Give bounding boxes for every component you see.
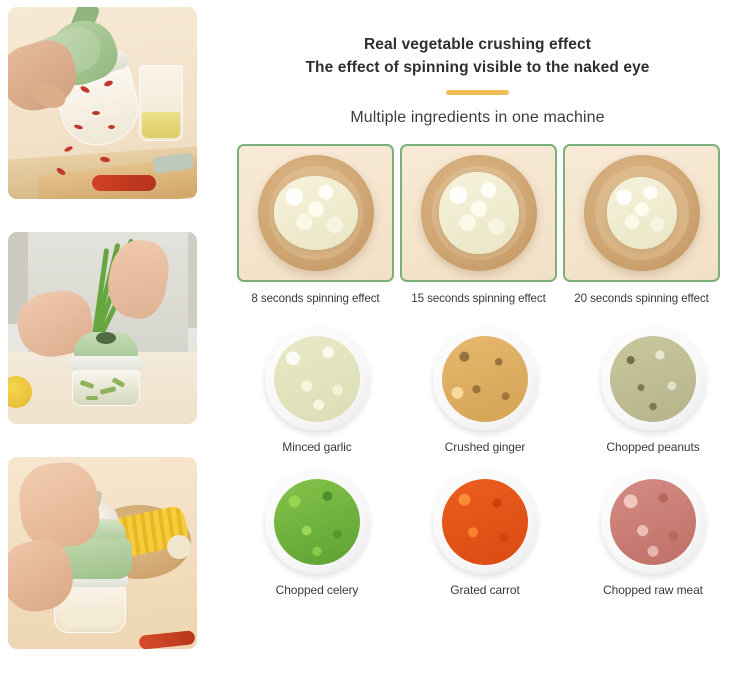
photo-chopper-scallions bbox=[8, 232, 197, 424]
product-photo-column bbox=[8, 7, 197, 649]
bowl-label: Minced garlic bbox=[233, 440, 401, 454]
chili-piece bbox=[92, 111, 100, 115]
bowl-cell-grated-carrot: Grated carrot bbox=[401, 470, 569, 597]
bowl-label: Chopped raw meat bbox=[569, 583, 737, 597]
chili-piece bbox=[108, 125, 115, 129]
bowl-cell-chopped-raw-meat: Chopped raw meat bbox=[569, 470, 737, 597]
bowl-contents bbox=[610, 479, 696, 565]
bowl-contents bbox=[442, 336, 528, 422]
bowl bbox=[601, 470, 705, 574]
bowl-contents bbox=[274, 336, 360, 422]
ingredient-bowl-grid: Minced garlic Crushed ginger Chopped pea… bbox=[233, 327, 750, 597]
bowl bbox=[433, 327, 537, 431]
timing-panel-row bbox=[237, 144, 750, 282]
bowl-contents bbox=[610, 336, 696, 422]
bowl bbox=[265, 470, 369, 574]
bowl-cell-crushed-ginger: Crushed ginger bbox=[401, 327, 569, 454]
bowl-contents bbox=[274, 479, 360, 565]
bowl-cell-chopped-peanuts: Chopped peanuts bbox=[569, 327, 737, 454]
bowl bbox=[433, 470, 537, 574]
chopper-feed-hole bbox=[96, 332, 116, 344]
bowl-label: Grated carrot bbox=[401, 583, 569, 597]
bowl-label: Chopped peanuts bbox=[569, 440, 737, 454]
bowl-label: Crushed ginger bbox=[401, 440, 569, 454]
chili-piece bbox=[64, 145, 74, 152]
bowl-row: Chopped celery Grated carrot Chopped raw… bbox=[233, 470, 750, 597]
infographic-page: Real vegetable crushing effect The effec… bbox=[0, 0, 750, 687]
timing-panel-8s bbox=[237, 144, 394, 282]
timing-label-8s: 8 seconds spinning effect bbox=[237, 292, 394, 305]
chili-pile bbox=[92, 175, 156, 191]
headline-line-1: Real vegetable crushing effect bbox=[205, 33, 750, 56]
minced-garlic-pile bbox=[439, 172, 519, 254]
bowl-label: Chopped celery bbox=[233, 583, 401, 597]
minced-garlic-pile bbox=[274, 176, 358, 250]
headline-line-2: The effect of spinning visible to the na… bbox=[205, 56, 750, 79]
header-block: Real vegetable crushing effect The effec… bbox=[205, 0, 750, 127]
bowl-row: Minced garlic Crushed ginger Chopped pea… bbox=[233, 327, 750, 454]
accent-divider bbox=[446, 90, 509, 95]
bowl-contents bbox=[442, 479, 528, 565]
hand-pressing bbox=[16, 459, 102, 551]
bowl bbox=[601, 327, 705, 431]
subheading: Multiple ingredients in one machine bbox=[205, 109, 750, 127]
drinking-glass bbox=[139, 65, 183, 141]
chopped-scallion bbox=[86, 396, 98, 400]
photo-chopper-pouring-chili bbox=[8, 7, 197, 199]
timing-panel-20s bbox=[563, 144, 720, 282]
content-column: Real vegetable crushing effect The effec… bbox=[205, 0, 750, 687]
timing-label-20s: 20 seconds spinning effect bbox=[563, 292, 720, 305]
lemon bbox=[8, 376, 32, 408]
bowl-cell-minced-garlic: Minced garlic bbox=[233, 327, 401, 454]
timing-label-15s: 15 seconds spinning effect bbox=[400, 292, 557, 305]
minced-garlic-pile bbox=[607, 177, 677, 249]
bowl bbox=[265, 327, 369, 431]
chili-pepper bbox=[138, 630, 195, 649]
timing-panel-15s bbox=[400, 144, 557, 282]
bowl-cell-chopped-celery: Chopped celery bbox=[233, 470, 401, 597]
timing-label-row: 8 seconds spinning effect 15 seconds spi… bbox=[237, 292, 750, 305]
photo-chopper-garlic-corn bbox=[8, 457, 197, 649]
